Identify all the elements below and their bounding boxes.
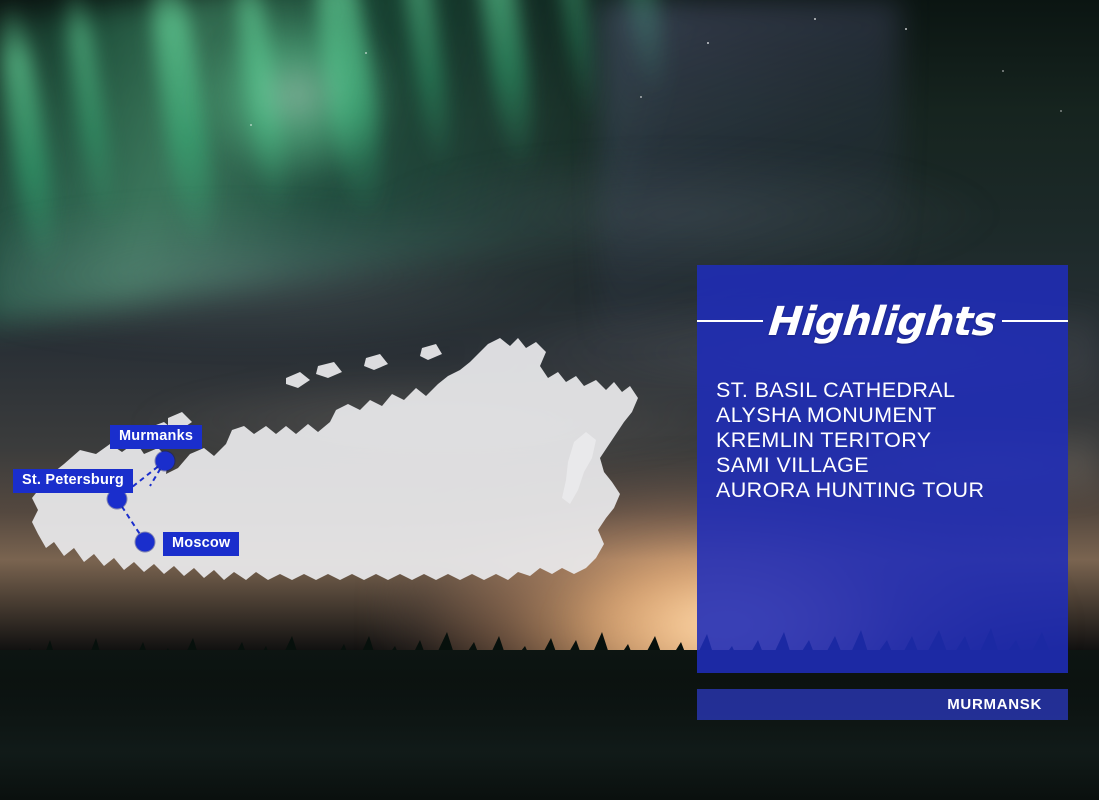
list-item: AURORA HUNTING TOUR <box>716 478 1056 503</box>
bracket-left-icon <box>697 300 763 344</box>
location-banner: MURMANSK <box>697 689 1068 720</box>
star <box>814 18 816 20</box>
list-item: KREMLIN TERITORY <box>716 428 1056 453</box>
star <box>365 52 367 54</box>
city-dot[interactable] <box>156 452 175 471</box>
slide-canvas: Murmanks St. Petersburg Moscow Highlight… <box>0 0 1099 800</box>
highlights-title-row: Highlights <box>697 291 1068 353</box>
city-label[interactable]: Moscow <box>163 532 239 556</box>
highlights-list: ST. BASIL CATHEDRAL ALYSHA MONUMENT KREM… <box>716 378 1056 503</box>
bracket-right-icon <box>1002 300 1068 344</box>
city-label[interactable]: Murmanks <box>110 425 202 449</box>
star <box>1060 110 1062 112</box>
list-item: ST. BASIL CATHEDRAL <box>716 378 1056 403</box>
star <box>640 96 642 98</box>
highlights-panel: Highlights ST. BASIL CATHEDRAL ALYSHA MO… <box>697 265 1068 673</box>
list-item: ALYSHA MONUMENT <box>716 403 1056 428</box>
location-name: MURMANSK <box>947 696 1068 713</box>
highlights-title: Highlights <box>761 299 1005 345</box>
star <box>707 42 709 44</box>
list-item: SAMI VILLAGE <box>716 453 1056 478</box>
city-dot[interactable] <box>136 533 155 552</box>
star <box>905 28 907 30</box>
city-label[interactable]: St. Petersburg <box>13 469 133 493</box>
star <box>1002 70 1004 72</box>
star <box>250 124 252 126</box>
